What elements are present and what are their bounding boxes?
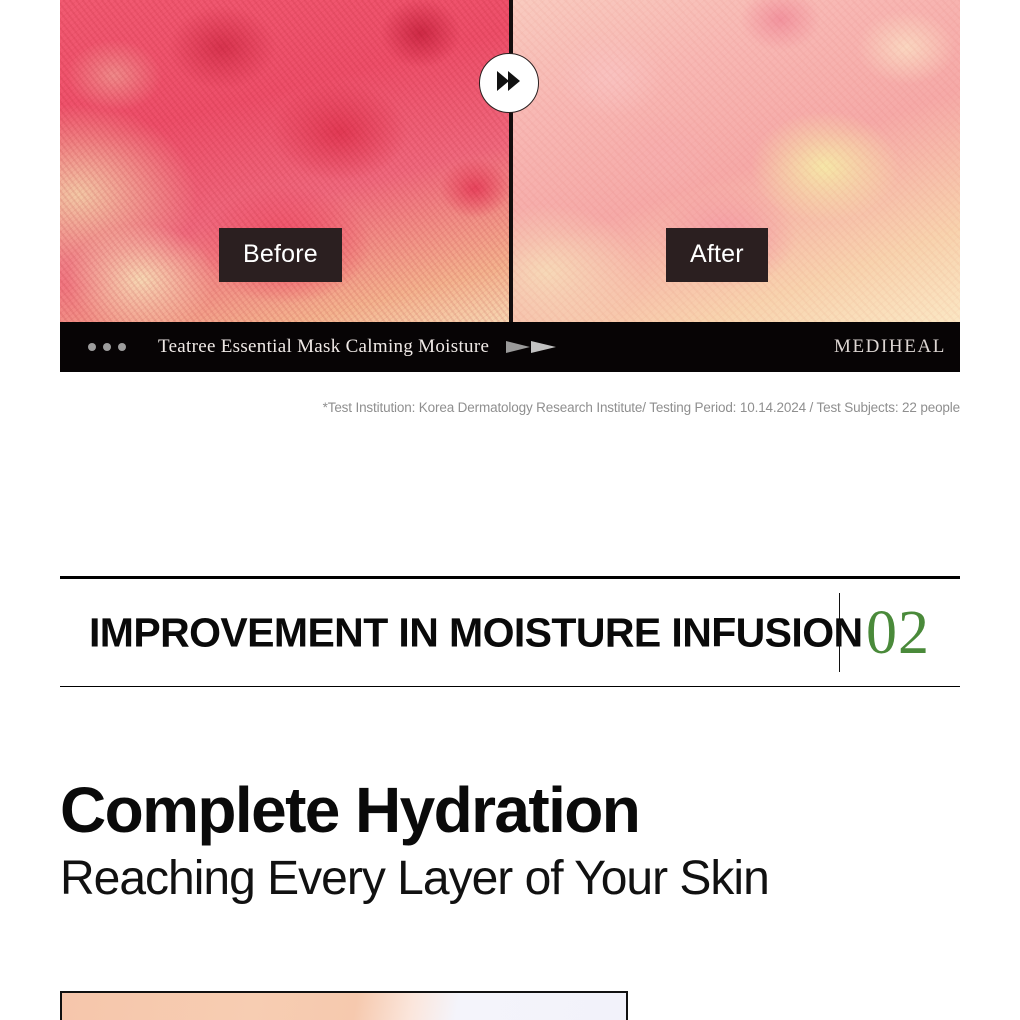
section-divider (839, 593, 840, 672)
comparison-photo: Before After (60, 0, 960, 322)
skin-closeup-photo (60, 991, 628, 1020)
brand-logo: MEDIHEAL (834, 336, 946, 358)
comparison-slider-handle[interactable] (479, 53, 539, 113)
product-name: Teatree Essential Mask Calming Moisture (158, 336, 489, 358)
after-label: After (666, 228, 768, 282)
page-subtitle: Reaching Every Layer of Your Skin (60, 855, 769, 903)
double-triangle-right-icon (506, 338, 558, 356)
comparison-divider (509, 0, 513, 322)
section-header: IMPROVEMENT IN MOISTURE INFUSION 02 (60, 576, 960, 687)
page-title: Complete Hydration (60, 778, 639, 842)
before-after-comparison: Before After Teatree Essential Mask Calm… (60, 0, 960, 374)
fast-forward-icon (496, 69, 522, 98)
before-label: Before (219, 228, 342, 282)
test-footnote: *Test Institution: Korea Dermatology Res… (60, 400, 960, 415)
product-caption-bar: Teatree Essential Mask Calming Moisture … (60, 322, 960, 372)
section-number: 02 (866, 602, 930, 664)
section-title: IMPROVEMENT IN MOISTURE INFUSION (89, 609, 863, 656)
three-dots-icon (88, 343, 126, 351)
